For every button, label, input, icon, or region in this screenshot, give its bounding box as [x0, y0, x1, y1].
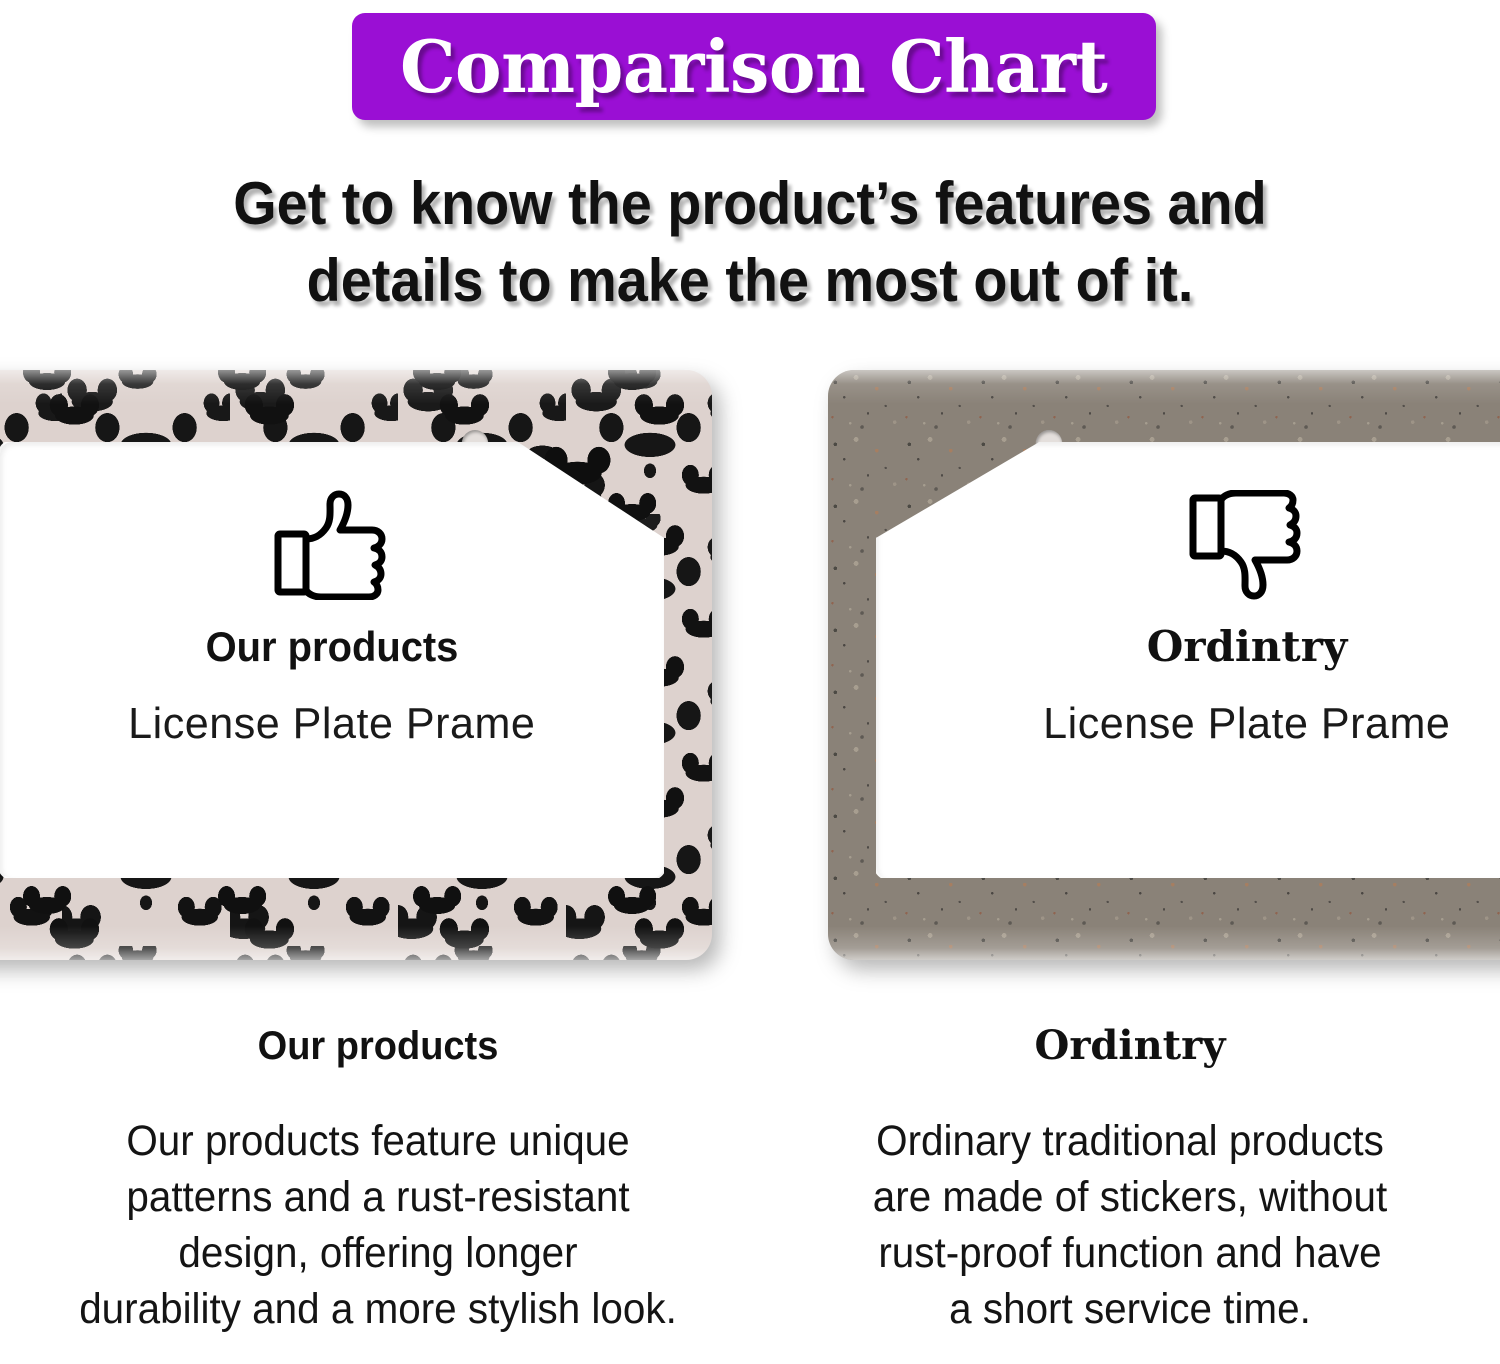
license-plate-frame-right: Ordintry License Plate Prame: [828, 370, 1500, 960]
page-subtitle: Get to know the product’s features and d…: [53, 166, 1448, 320]
left-verdict-label: Our products: [206, 626, 459, 668]
subtitle-line-2: details to make the most out of it.: [53, 243, 1448, 320]
right-verdict-label: Ordintry: [1147, 626, 1348, 668]
page-title: Comparison Chart: [400, 31, 1107, 103]
right-column-body: Ordinary traditional products are made o…: [810, 1114, 1449, 1338]
left-body-line-4: durability and a more stylish look.: [58, 1282, 697, 1338]
right-window-content: Ordintry License Plate Prame: [876, 442, 1500, 878]
right-body-line-4: a short service time.: [810, 1282, 1449, 1338]
comparison-chart-title-banner: Comparison Chart: [352, 13, 1156, 120]
left-window-content: Our products License Plate Prame: [0, 442, 664, 878]
subtitle-line-1: Get to know the product’s features and: [53, 166, 1448, 243]
our-products-description-column: Our products Our products feature unique…: [38, 1026, 718, 1338]
left-body-line-2: patterns and a rust-resistant: [58, 1170, 697, 1226]
left-column-body: Our products feature unique patterns and…: [58, 1114, 697, 1338]
right-body-line-3: rust-proof function and have: [810, 1226, 1449, 1282]
right-product-line: License Plate Prame: [1043, 702, 1450, 746]
left-body-line-3: design, offering longer: [58, 1226, 697, 1282]
plate-window-right: Ordintry License Plate Prame: [876, 442, 1500, 878]
left-product-line: License Plate Prame: [128, 702, 535, 746]
thumbs-up-icon: [273, 490, 391, 600]
ordinary-product-frame-panel: Ordintry License Plate Prame: [828, 370, 1500, 960]
our-product-frame-panel: Our products License Plate Prame: [0, 370, 712, 960]
thumbs-down-icon: [1188, 490, 1306, 600]
left-column-heading: Our products: [55, 1026, 701, 1066]
ordinary-description-column: Ordintry Ordinary traditional products a…: [790, 1026, 1470, 1338]
right-column-heading: Ordintry: [790, 1026, 1470, 1066]
plate-window-left: Our products License Plate Prame: [0, 442, 664, 878]
license-plate-frame-left: Our products License Plate Prame: [0, 370, 712, 960]
right-body-line-1: Ordinary traditional products: [810, 1114, 1449, 1170]
left-body-line-1: Our products feature unique: [58, 1114, 697, 1170]
right-body-line-2: are made of stickers, without: [810, 1170, 1449, 1226]
